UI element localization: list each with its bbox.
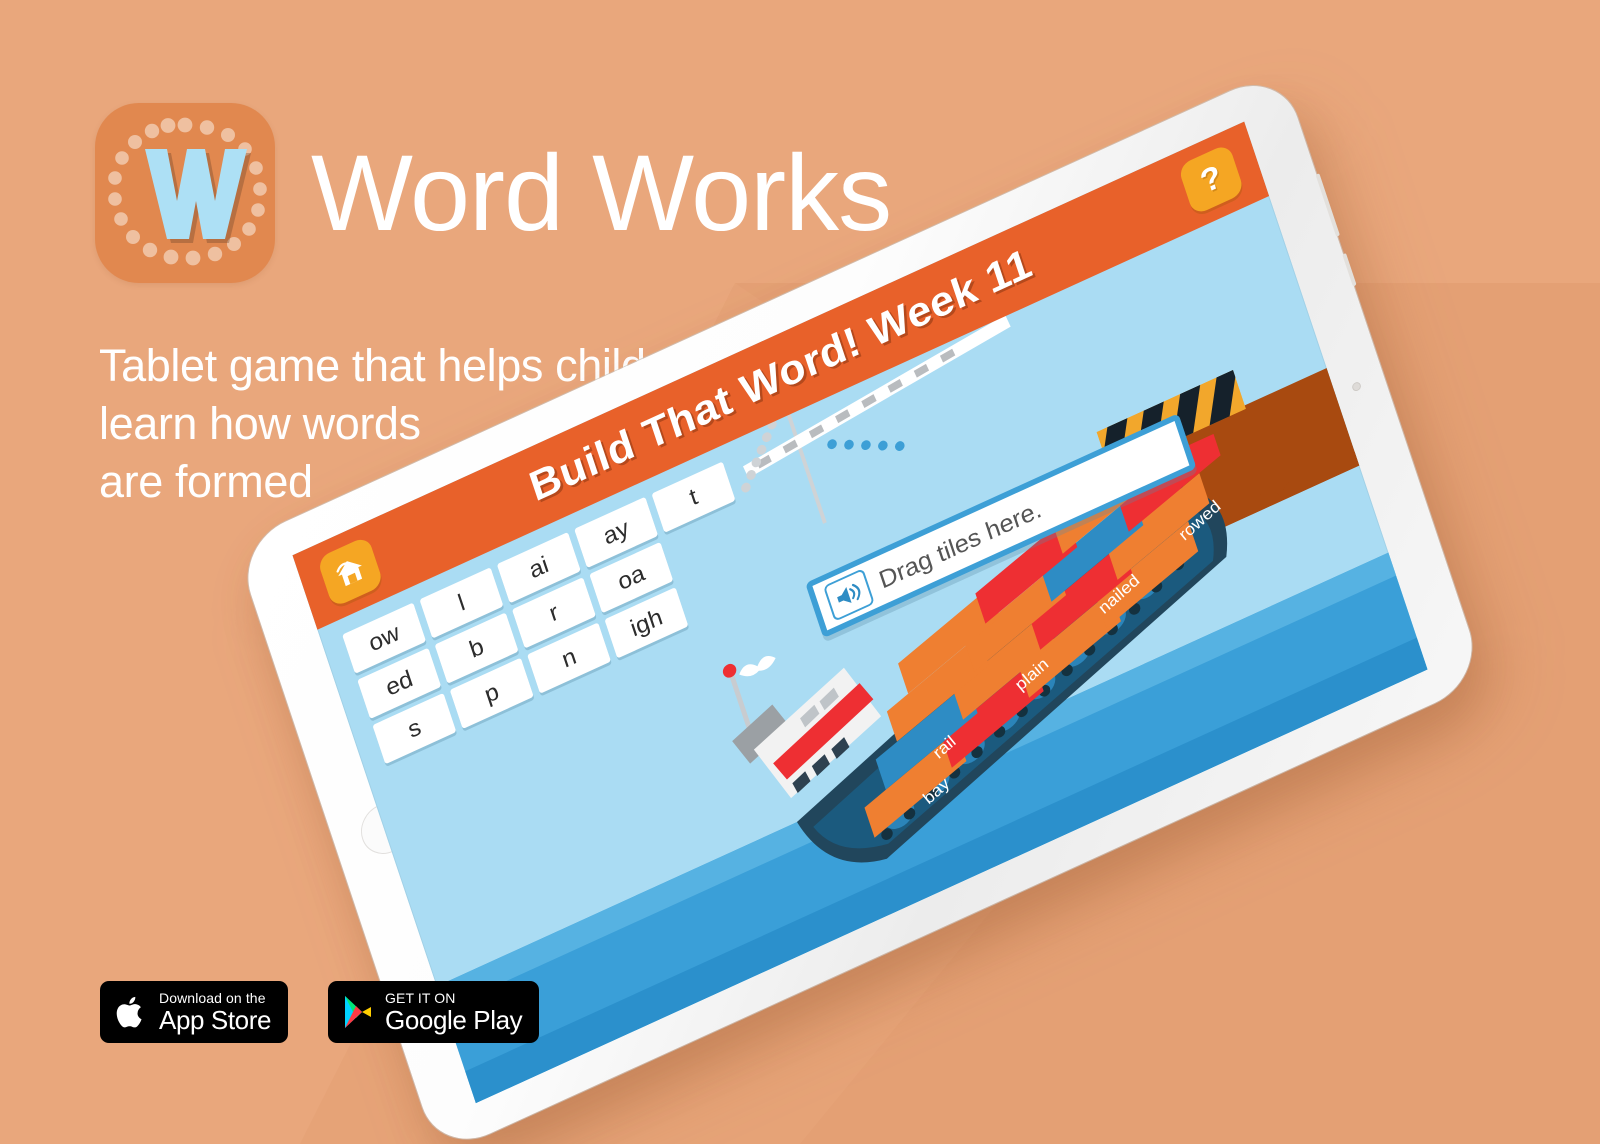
front-camera-icon bbox=[1351, 380, 1362, 392]
home-icon[interactable] bbox=[317, 535, 385, 608]
google-play-icon bbox=[342, 994, 374, 1030]
google-play-badge[interactable]: GET IT ON Google Play bbox=[328, 981, 539, 1043]
google-play-main: Google Play bbox=[385, 1006, 522, 1035]
page-title: Word Works bbox=[311, 139, 891, 247]
word-works-app-icon bbox=[95, 103, 275, 283]
help-button[interactable]: ? bbox=[1177, 143, 1245, 216]
apple-icon bbox=[114, 992, 148, 1032]
app-store-main: App Store bbox=[159, 1006, 271, 1035]
app-store-badge[interactable]: Download on the App Store bbox=[100, 981, 288, 1043]
brand-lockup: Word Works bbox=[95, 103, 891, 283]
app-store-sub: Download on the bbox=[159, 990, 271, 1006]
speaker-icon[interactable] bbox=[823, 568, 875, 622]
google-play-sub: GET IT ON bbox=[385, 990, 522, 1006]
store-badges: Download on the App Store GET IT ON Goog… bbox=[100, 981, 539, 1043]
